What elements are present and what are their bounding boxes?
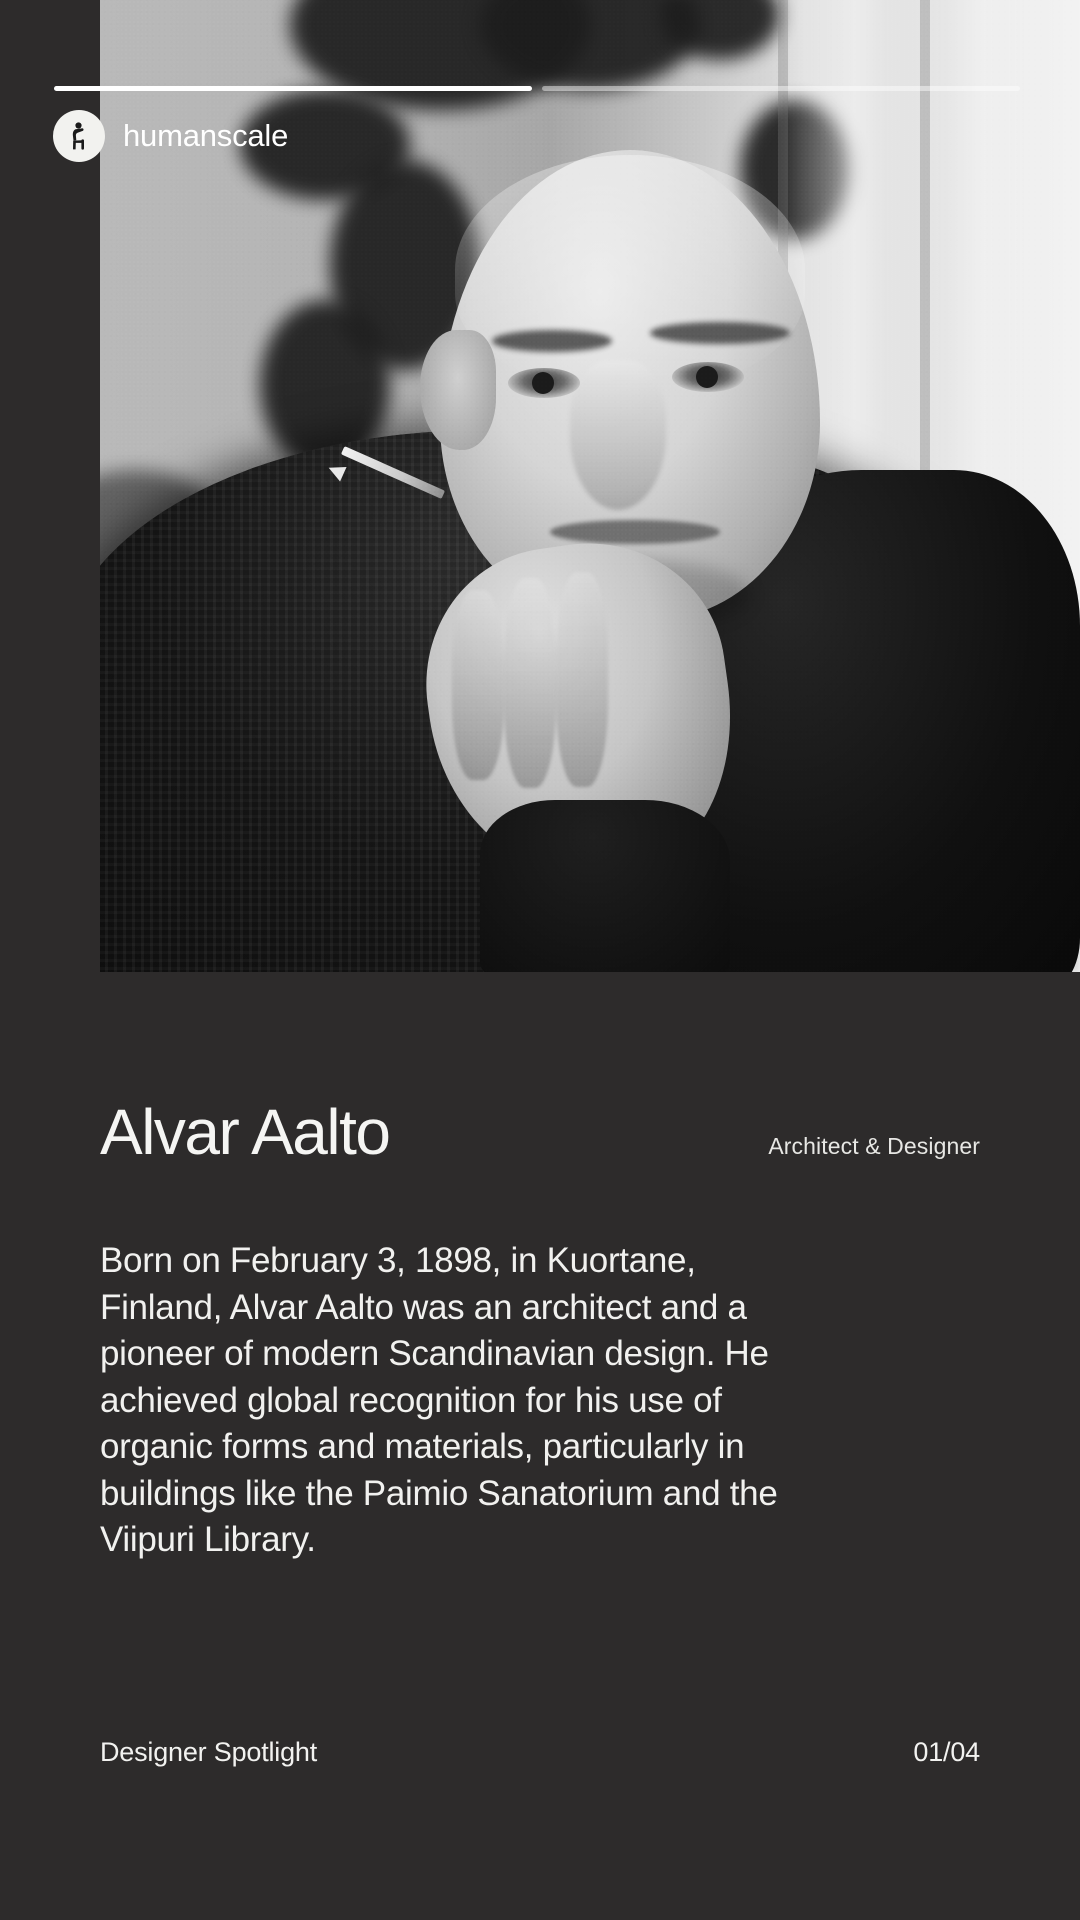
designer-bio: Born on February 3, 1898, in Kuortane, F… xyxy=(100,1238,800,1564)
headline-row: Alvar Aalto Architect & Designer xyxy=(100,1100,980,1164)
story-progress-bar[interactable] xyxy=(54,84,1020,92)
story-content: Alvar Aalto Architect & Designer Born on… xyxy=(0,972,1080,1920)
brand-name: humanscale xyxy=(123,118,288,154)
brand-header[interactable]: humanscale xyxy=(53,110,288,162)
story-footer: Designer Spotlight 01/04 xyxy=(100,1737,980,1768)
brand-logo-badge[interactable] xyxy=(53,110,105,162)
story-card: humanscale Alvar Aalto Architect & Desig… xyxy=(0,0,1080,1920)
designer-name: Alvar Aalto xyxy=(100,1100,389,1164)
footer-slide-counter: 01/04 xyxy=(913,1737,980,1768)
progress-segment-2[interactable] xyxy=(542,86,1020,91)
person-in-chair-icon xyxy=(62,119,96,153)
progress-segment-1[interactable] xyxy=(54,86,532,91)
footer-series-label: Designer Spotlight xyxy=(100,1737,317,1768)
designer-role: Architect & Designer xyxy=(768,1133,980,1160)
